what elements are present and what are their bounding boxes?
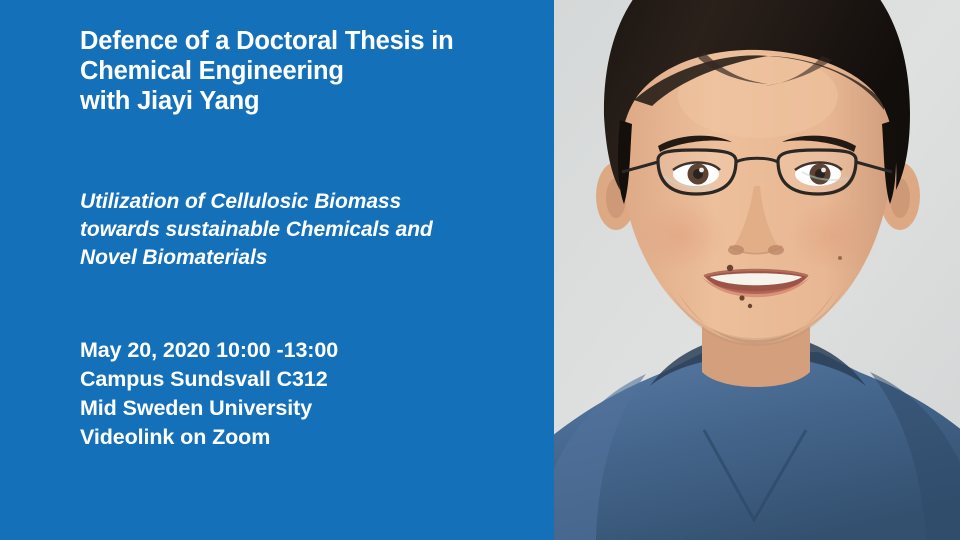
subtitle-line-2: towards sustainable Chemicals and [80,216,540,244]
event-details: May 20, 2020 10:00 -13:00 Campus Sundsva… [80,336,540,452]
detail-datetime: May 20, 2020 10:00 -13:00 [80,336,540,365]
title-line-1: Defence of a Doctoral Thesis in [80,26,540,56]
title-line-3: with Jiayi Yang [80,86,540,116]
detail-institution: Mid Sweden University [80,394,540,423]
thesis-subtitle: Utilization of Cellulosic Biomass toward… [80,188,540,272]
portrait-illustration [554,0,960,540]
detail-videolink: Videolink on Zoom [80,423,540,452]
title-line-2: Chemical Engineering [80,56,540,86]
detail-venue: Campus Sundsvall C312 [80,365,540,394]
poster-canvas: Defence of a Doctoral Thesis in Chemical… [0,0,960,540]
subtitle-line-1: Utilization of Cellulosic Biomass [80,188,540,216]
portrait-photo [554,0,960,540]
subtitle-line-3: Novel Biomaterials [80,244,540,272]
page-title: Defence of a Doctoral Thesis in Chemical… [80,26,540,116]
